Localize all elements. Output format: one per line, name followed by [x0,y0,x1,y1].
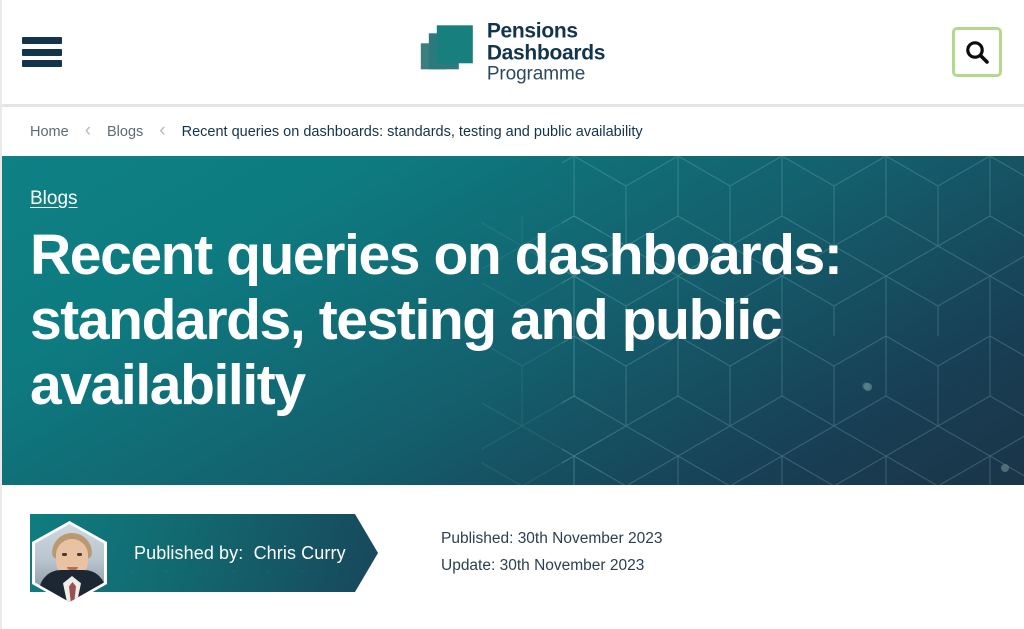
published-date: Published: 30th November 2023 [441,526,662,553]
breadcrumb: Home ‹ Blogs ‹ Recent queries on dashboa… [2,107,1024,156]
author-avatar [35,524,104,602]
brand-line-3: Programme [487,64,605,84]
hamburger-bar-2 [22,49,62,56]
breadcrumb-item-home[interactable]: Home [30,124,69,140]
updated-date: Update: 30th November 2023 [441,553,662,580]
search-icon [964,39,990,65]
author-name: Chris Curry [254,543,346,563]
author-meta-row: Published by: Chris Curry Published: 30t… [2,485,1024,621]
hero-content: Blogs Recent queries on dashboards: stan… [2,156,1024,418]
site-logo[interactable]: Pensions Dashboards Programme [421,20,605,83]
brand-line-2: Dashboards [487,42,605,64]
avatar [32,521,107,605]
published-by-label: Published by: [134,543,243,563]
breadcrumb-item-current: Recent queries on dashboards: standards,… [182,124,643,140]
brand-line-1: Pensions [487,20,605,42]
brand-wordmark: Pensions Dashboards Programme [487,20,605,83]
hero-banner: Blogs Recent queries on dashboards: stan… [2,156,1024,485]
chevron-left-icon: ‹ [69,121,107,140]
hamburger-bar-1 [22,37,62,44]
breadcrumb-item-blogs[interactable]: Blogs [107,124,143,140]
site-header: Pensions Dashboards Programme [2,0,1024,104]
three-stacked-squares-icon [421,23,475,81]
chevron-left-icon: ‹ [143,121,181,140]
hamburger-bar-3 [22,60,62,67]
author-label: Published by: Chris Curry [134,543,346,564]
hero-category-link[interactable]: Blogs [30,188,78,210]
page-title: Recent queries on dashboards: standards,… [30,223,910,418]
search-button[interactable] [952,27,1002,77]
page-root: Pensions Dashboards Programme Home ‹ Blo… [0,0,1024,629]
hamburger-menu-icon[interactable] [22,37,62,67]
publication-dates: Published: 30th November 2023 Update: 30… [441,526,662,579]
